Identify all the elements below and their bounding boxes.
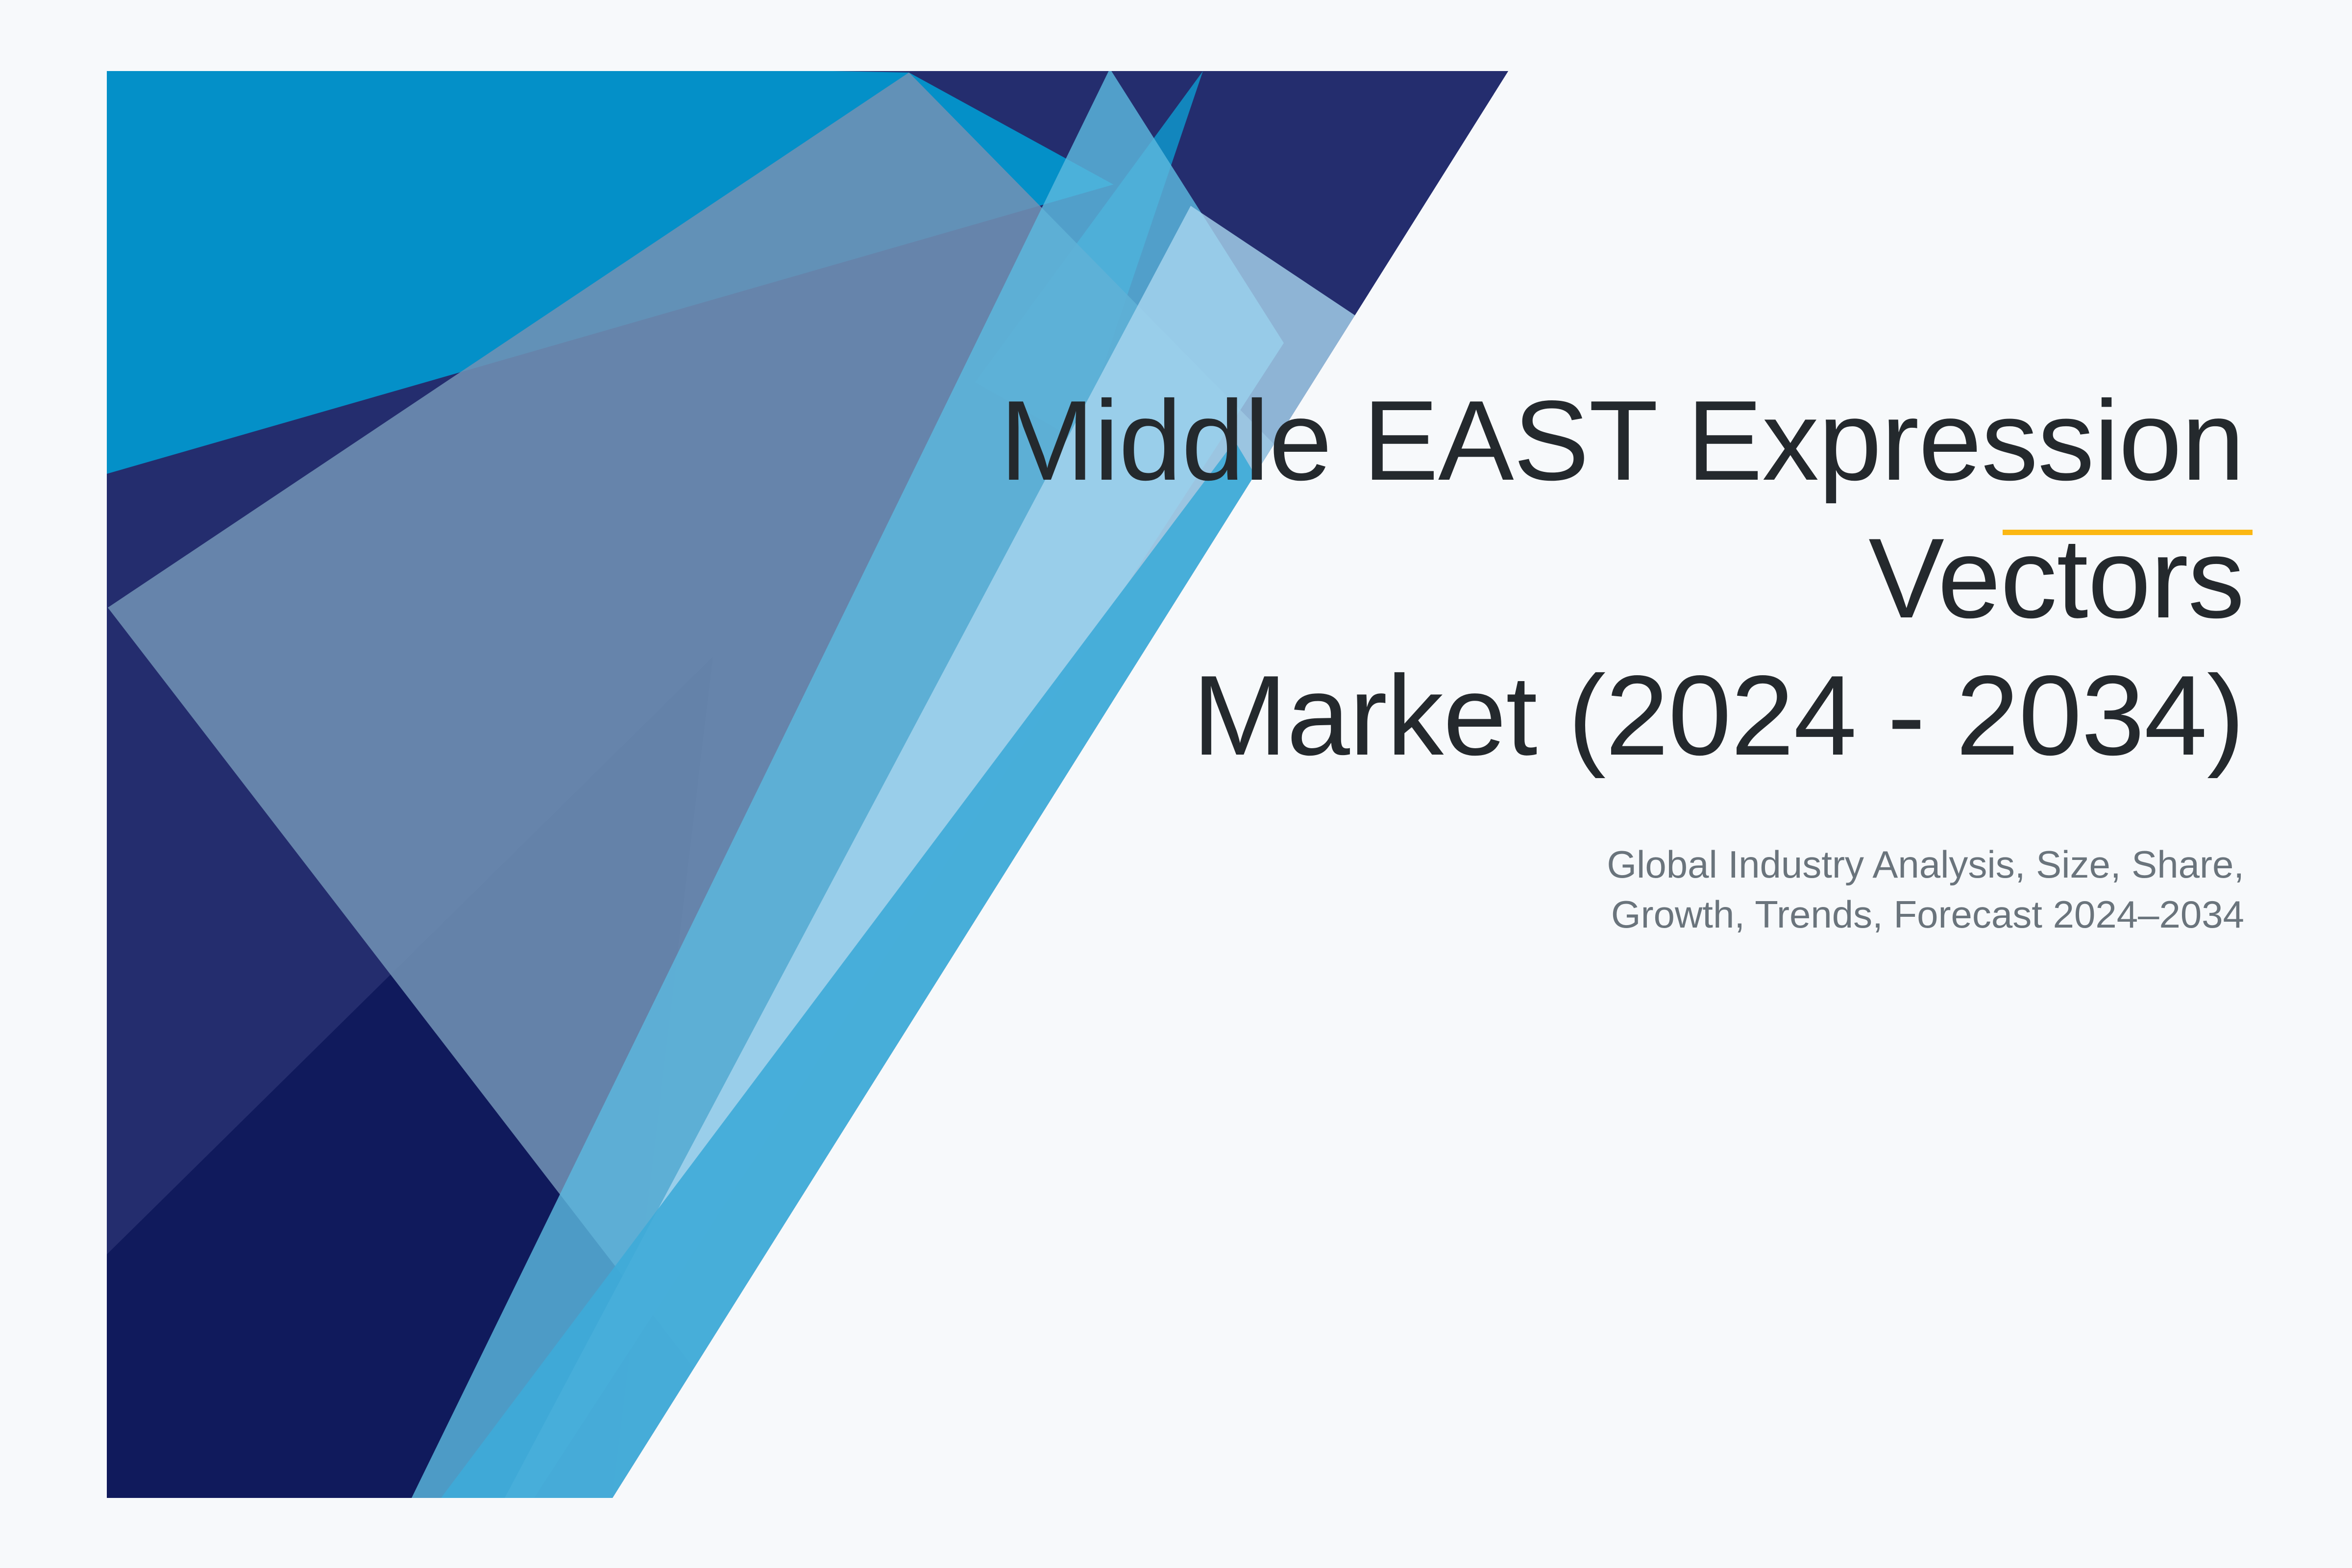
navy-top-right-wedge xyxy=(833,71,1508,323)
title-underline-accent xyxy=(2003,530,2253,535)
deep-navy-lower-wedge xyxy=(107,657,713,1498)
page-subtitle: Global Industry Analysis, Size, Share, G… xyxy=(980,785,2244,939)
cover-text-block: Middle EAST Expression Vectors Market (2… xyxy=(980,372,2244,939)
page-title: Middle EAST Expression Vectors Market (2… xyxy=(980,372,2244,785)
report-cover-page: Middle EAST Expression Vectors Market (2… xyxy=(0,0,2352,1568)
